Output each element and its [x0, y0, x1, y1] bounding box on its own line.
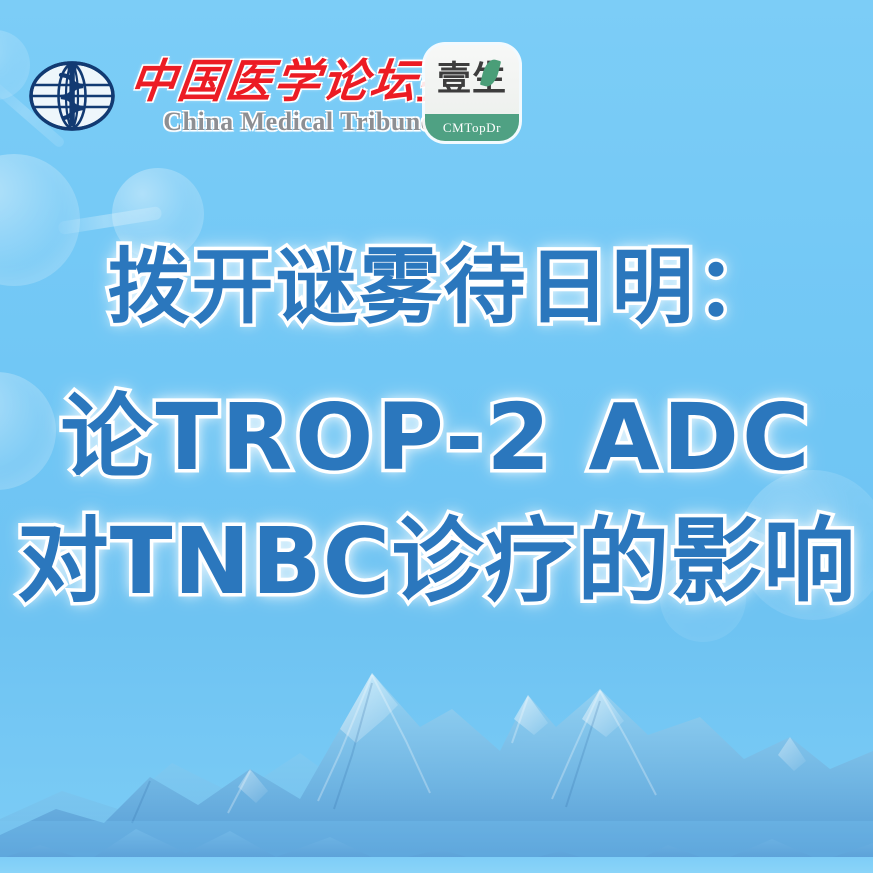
poster-canvas: 中国医学论坛报 China Medical Tribune 壹生 CMTopDr… — [0, 0, 873, 873]
masthead: 中国医学论坛报 China Medical Tribune — [28, 42, 466, 150]
app-badge-subtitle: CMTopDr — [443, 120, 501, 136]
globe-caduceus-icon — [28, 57, 116, 135]
molecule-bubble-icon — [0, 30, 30, 100]
publication-name-cn: 中国医学论坛报 — [127, 57, 469, 107]
title-line-2: 论TROP-2 ADC — [0, 378, 873, 498]
app-badge-bottom: CMTopDr — [425, 114, 519, 141]
molecule-bond-icon — [58, 206, 163, 235]
mountain-range-illustration — [0, 623, 873, 873]
title-line-1: 拨开谜雾待日明： — [0, 236, 873, 340]
publication-name-en: China Medical Tribune — [163, 108, 433, 136]
title-line-3: 对TNBC诊疗的影响 — [0, 502, 873, 622]
masthead-text: 中国医学论坛报 China Medical Tribune — [130, 57, 466, 136]
app-badge-cmtopdr[interactable]: 壹生 CMTopDr — [425, 45, 519, 141]
bottom-strip — [0, 857, 873, 873]
poster-title: 拨开谜雾待日明： 论TROP-2 ADC 对TNBC诊疗的影响 — [0, 236, 873, 622]
app-badge-top: 壹生 — [425, 45, 519, 114]
